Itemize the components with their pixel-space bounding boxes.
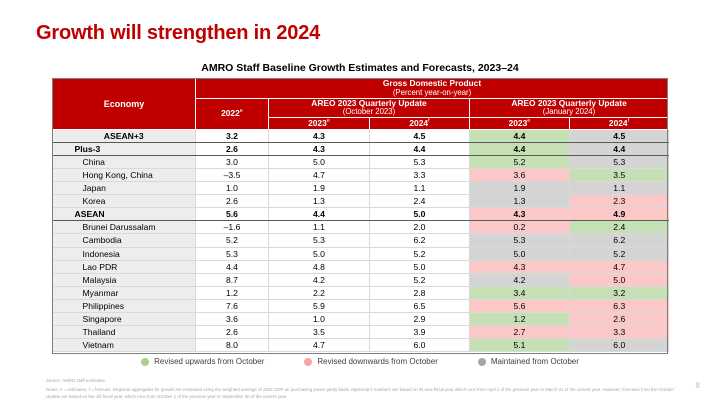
legend-label: Revised upwards from October	[154, 357, 264, 366]
row-economy-label: ASEAN	[53, 208, 196, 221]
cell-2022: 8.0	[196, 339, 269, 352]
cell-jan-2024: 4.4	[570, 142, 669, 155]
cell-jan-2024: 4.9	[570, 208, 669, 221]
cell-jan-2023: 0.2	[470, 221, 570, 234]
cell-jan-2024: 1.1	[570, 182, 669, 195]
header-october-group: AREO 2023 Quarterly Update (October 2023…	[269, 98, 470, 118]
cell-jan-2024: 5.0	[570, 273, 669, 286]
notes-block: Source: AMRO staff estimates. Notes: e =…	[46, 377, 686, 400]
cell-jan-2023: 3.4	[470, 286, 570, 299]
cell-jan-2024: 4.5	[570, 129, 669, 142]
cell-jan-2023: 4.3	[470, 208, 570, 221]
cell-jan-2023: 4.3	[470, 260, 570, 273]
row-economy-label: Myanmar	[53, 286, 196, 299]
legend-item-same: Maintained from October	[478, 357, 579, 366]
row-economy-label: Philippines	[53, 299, 196, 312]
cell-jan-2024: 3.3	[570, 326, 669, 339]
cell-2022: 7.6	[196, 299, 269, 312]
cell-2022: 2.6	[196, 195, 269, 208]
cell-jan-2023: 2.7	[470, 326, 570, 339]
header-col-2022: 2022e	[196, 98, 269, 129]
cell-oct-2023: 4.3	[269, 129, 370, 142]
cell-jan-2023: 5.2	[470, 155, 570, 168]
header-gdp-group: Gross Domestic Product (Percent year-on-…	[196, 79, 669, 99]
table-row: Philippines7.65.96.55.66.3	[53, 299, 669, 312]
cell-2022: 3.2	[196, 129, 269, 142]
table-row: Myanmar1.22.22.83.43.2	[53, 286, 669, 299]
legend-label: Revised downwards from October	[317, 357, 438, 366]
cell-oct-2024: 6.5	[370, 299, 470, 312]
cell-jan-2023: 3.6	[470, 168, 570, 181]
cell-2022: –1.6	[196, 221, 269, 234]
row-economy-label: ASEAN+3	[53, 129, 196, 142]
table-row: ASEAN5.64.45.04.34.9	[53, 208, 669, 221]
cell-oct-2024: 5.0	[370, 208, 470, 221]
cell-jan-2023: 1.9	[470, 182, 570, 195]
cell-oct-2024: 4.4	[370, 142, 470, 155]
forecast-table-container: Economy Gross Domestic Product (Percent …	[52, 78, 668, 352]
cell-jan-2023: 1.3	[470, 195, 570, 208]
table-header: Economy Gross Domestic Product (Percent …	[53, 79, 669, 130]
table-row: Hong Kong, China–3.54.73.33.63.5	[53, 168, 669, 181]
table-row: Korea2.61.32.41.32.3	[53, 195, 669, 208]
header-2022-sup: e	[240, 108, 243, 114]
row-economy-label: Thailand	[53, 326, 196, 339]
table-row: Plus-32.64.34.44.44.4	[53, 142, 669, 155]
cell-jan-2023: 1.2	[470, 312, 570, 325]
row-economy-label: China	[53, 155, 196, 168]
table-row: Thailand2.63.53.92.73.3	[53, 326, 669, 339]
cell-jan-2024: 6.2	[570, 234, 669, 247]
cell-oct-2023: 4.3	[269, 142, 370, 155]
cell-2022: –3.5	[196, 168, 269, 181]
cell-oct-2024: 5.2	[370, 247, 470, 260]
row-economy-label: Korea	[53, 195, 196, 208]
cell-oct-2023: 5.3	[269, 234, 370, 247]
cell-jan-2023: 5.1	[470, 339, 570, 352]
page-number: 8	[696, 381, 700, 390]
cell-oct-2023: 1.3	[269, 195, 370, 208]
cell-jan-2024: 5.2	[570, 247, 669, 260]
header-january-subtitle: (January 2024)	[470, 108, 668, 117]
cell-oct-2023: 5.0	[269, 155, 370, 168]
table-body: ASEAN+33.24.34.54.44.5Plus-32.64.34.44.4…	[53, 129, 669, 352]
cell-jan-2024: 5.3	[570, 155, 669, 168]
cell-oct-2023: 4.4	[269, 208, 370, 221]
row-economy-label: Indonesia	[53, 247, 196, 260]
cell-jan-2023: 4.2	[470, 273, 570, 286]
header-oct-2024: 2024f	[370, 118, 470, 129]
table-title: AMRO Staff Baseline Growth Estimates and…	[52, 62, 668, 74]
cell-jan-2023: 4.4	[470, 129, 570, 142]
table-row: China3.05.05.35.25.3	[53, 155, 669, 168]
cell-jan-2023: 5.3	[470, 234, 570, 247]
cell-oct-2024: 5.0	[370, 260, 470, 273]
general-notes: Notes: e = estimates, f = forecast. Regi…	[46, 386, 686, 400]
cell-2022: 1.2	[196, 286, 269, 299]
cell-oct-2023: 1.0	[269, 312, 370, 325]
row-economy-label: Japan	[53, 182, 196, 195]
cell-jan-2024: 2.3	[570, 195, 669, 208]
table-row: Malaysia8.74.25.24.25.0	[53, 273, 669, 286]
page-title: Growth will strengthen in 2024	[36, 22, 320, 45]
cell-2022: 3.0	[196, 155, 269, 168]
cell-2022: 8.7	[196, 273, 269, 286]
table-row: Vietnam8.04.76.05.16.0	[53, 339, 669, 352]
table-row: Cambodia5.25.36.25.36.2	[53, 234, 669, 247]
cell-jan-2024: 3.2	[570, 286, 669, 299]
cell-oct-2023: 4.2	[269, 273, 370, 286]
cell-oct-2024: 2.0	[370, 221, 470, 234]
header-jan-2023: 2023e	[470, 118, 570, 129]
cell-oct-2023: 1.9	[269, 182, 370, 195]
row-economy-label: Cambodia	[53, 234, 196, 247]
forecast-table: Economy Gross Domestic Product (Percent …	[52, 78, 669, 352]
header-2022-label: 2022	[221, 108, 240, 118]
cell-jan-2023: 5.6	[470, 299, 570, 312]
cell-oct-2024: 2.4	[370, 195, 470, 208]
cell-oct-2024: 2.9	[370, 312, 470, 325]
cell-oct-2024: 6.2	[370, 234, 470, 247]
table-row: Brunei Darussalam–1.61.12.00.22.4	[53, 221, 669, 234]
cell-oct-2024: 3.9	[370, 326, 470, 339]
legend-label: Maintained from October	[491, 357, 579, 366]
cell-jan-2024: 3.5	[570, 168, 669, 181]
table-row: Lao PDR4.44.85.04.34.7	[53, 260, 669, 273]
table-row: ASEAN+33.24.34.54.44.5	[53, 129, 669, 142]
cell-oct-2023: 1.1	[269, 221, 370, 234]
cell-oct-2024: 1.1	[370, 182, 470, 195]
header-october-subtitle: (October 2023)	[269, 108, 469, 117]
header-jan-2024: 2024f	[570, 118, 669, 129]
cell-jan-2023: 5.0	[470, 247, 570, 260]
row-economy-label: Singapore	[53, 312, 196, 325]
header-gdp-subtitle: (Percent year-on-year)	[196, 89, 668, 98]
cell-oct-2024: 3.3	[370, 168, 470, 181]
cell-2022: 4.4	[196, 260, 269, 273]
table-row: Singapore3.61.02.91.22.6	[53, 312, 669, 325]
row-economy-label: Vietnam	[53, 339, 196, 352]
legend-dot-icon	[141, 358, 149, 366]
row-economy-label: Lao PDR	[53, 260, 196, 273]
cell-oct-2024: 5.2	[370, 273, 470, 286]
cell-jan-2023: 4.4	[470, 142, 570, 155]
header-oct-2023: 2023e	[269, 118, 370, 129]
cell-jan-2024: 2.6	[570, 312, 669, 325]
row-economy-label: Malaysia	[53, 273, 196, 286]
cell-oct-2024: 4.5	[370, 129, 470, 142]
legend-dot-icon	[478, 358, 486, 366]
cell-oct-2024: 6.0	[370, 339, 470, 352]
cell-2022: 2.6	[196, 326, 269, 339]
row-economy-label: Hong Kong, China	[53, 168, 196, 181]
cell-oct-2023: 5.9	[269, 299, 370, 312]
cell-2022: 3.6	[196, 312, 269, 325]
table-row: Japan1.01.91.11.91.1	[53, 182, 669, 195]
row-economy-label: Plus-3	[53, 142, 196, 155]
cell-2022: 5.6	[196, 208, 269, 221]
header-january-group: AREO 2023 Quarterly Update (January 2024…	[470, 98, 669, 118]
table-row: Indonesia5.35.05.25.05.2	[53, 247, 669, 260]
cell-oct-2024: 2.8	[370, 286, 470, 299]
cell-jan-2024: 4.7	[570, 260, 669, 273]
source-note: Source: AMRO staff estimates.	[46, 377, 686, 384]
legend-item-down: Revised downwards from October	[304, 357, 438, 366]
cell-oct-2023: 4.7	[269, 339, 370, 352]
cell-oct-2023: 4.8	[269, 260, 370, 273]
legend: Revised upwards from OctoberRevised down…	[52, 357, 668, 366]
row-economy-label: Brunei Darussalam	[53, 221, 196, 234]
cell-2022: 2.6	[196, 142, 269, 155]
cell-jan-2024: 6.0	[570, 339, 669, 352]
header-economy: Economy	[53, 79, 196, 130]
legend-item-up: Revised upwards from October	[141, 357, 264, 366]
cell-jan-2024: 2.4	[570, 221, 669, 234]
cell-2022: 5.3	[196, 247, 269, 260]
cell-oct-2023: 5.0	[269, 247, 370, 260]
cell-2022: 1.0	[196, 182, 269, 195]
cell-oct-2023: 4.7	[269, 168, 370, 181]
cell-oct-2023: 2.2	[269, 286, 370, 299]
cell-jan-2024: 6.3	[570, 299, 669, 312]
cell-oct-2023: 3.5	[269, 326, 370, 339]
cell-2022: 5.2	[196, 234, 269, 247]
cell-oct-2024: 5.3	[370, 155, 470, 168]
legend-dot-icon	[304, 358, 312, 366]
